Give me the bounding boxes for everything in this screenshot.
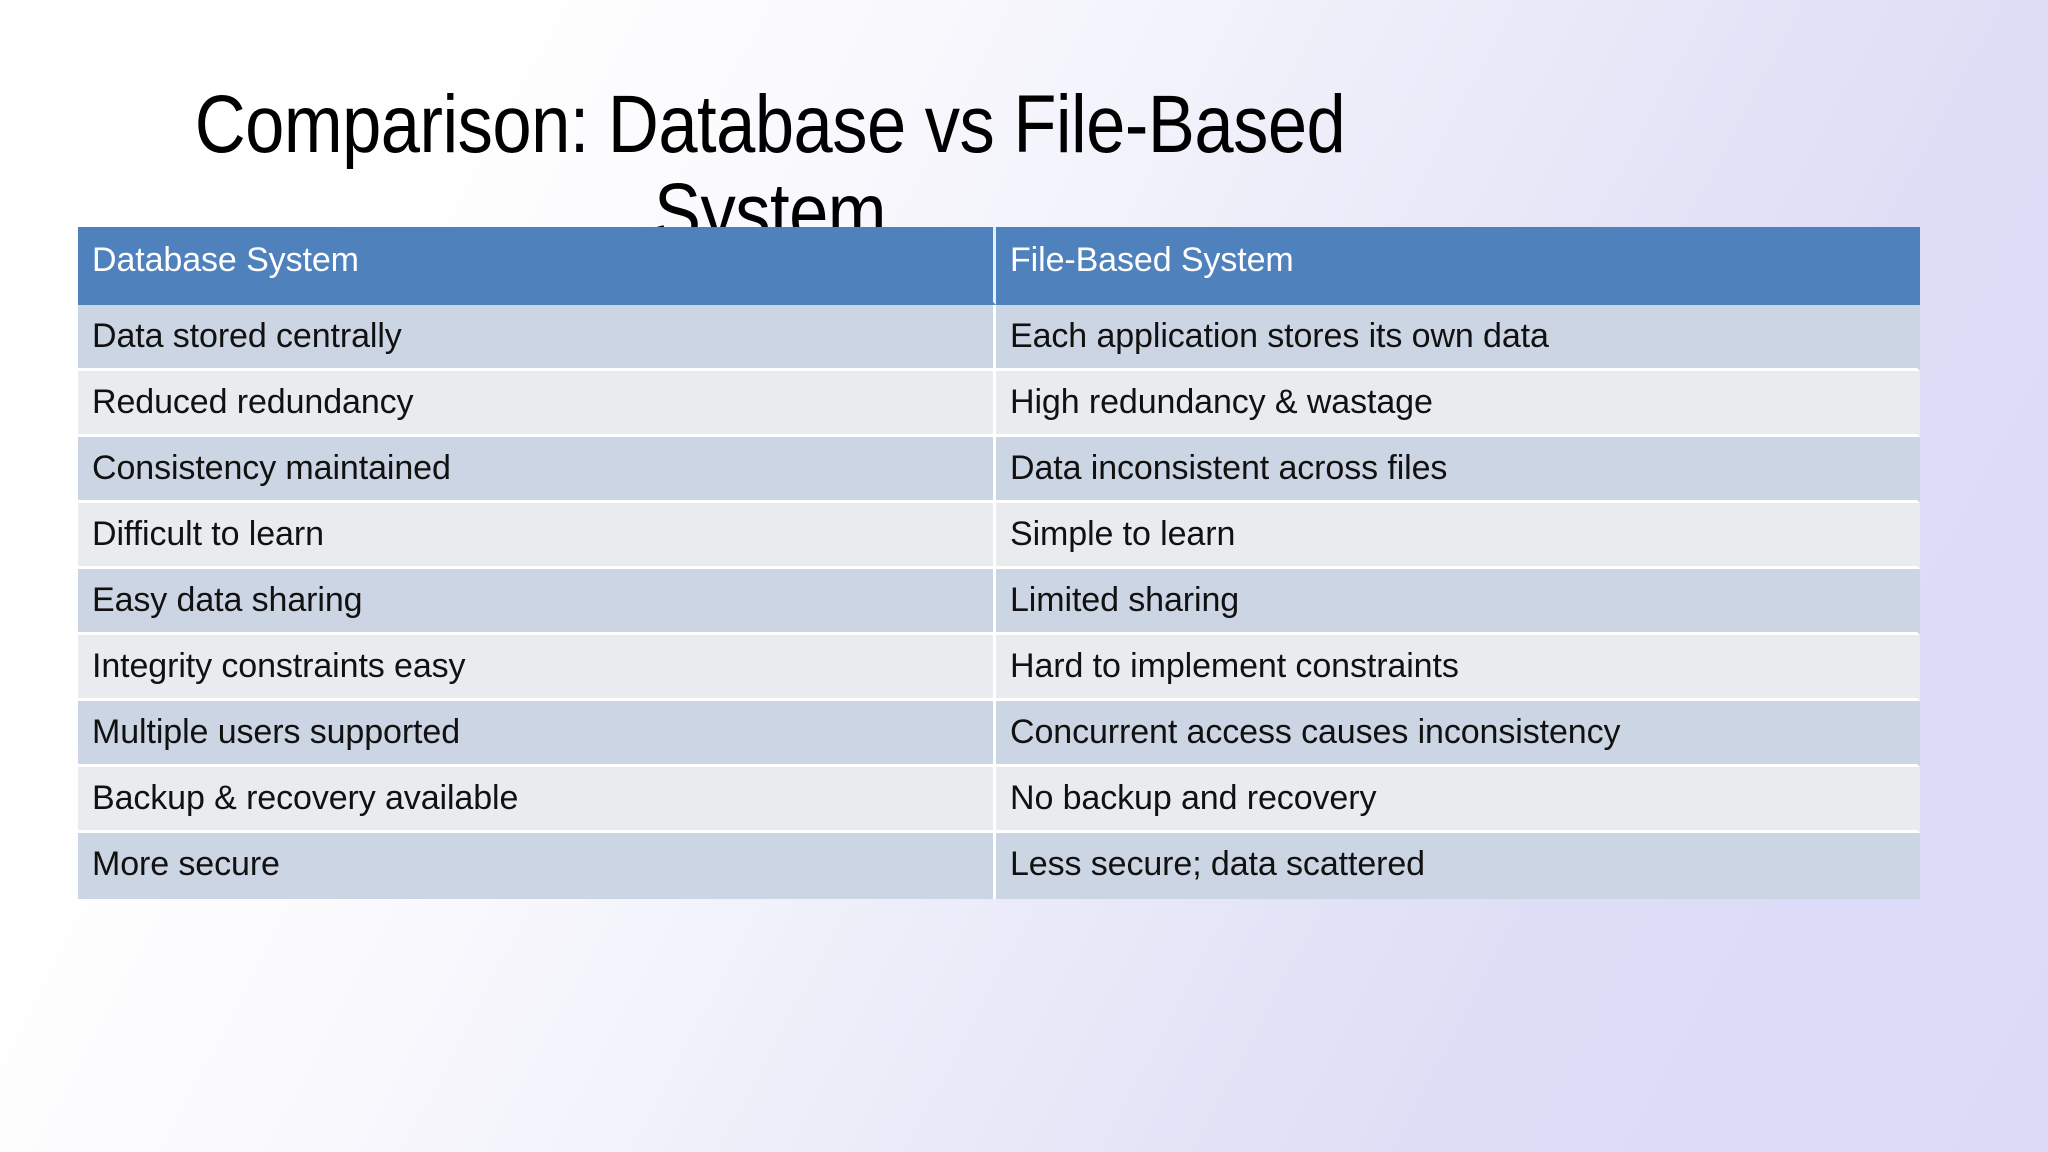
cell-file-based-system: Data inconsistent across files [996,437,1920,503]
cell-file-based-system: No backup and recovery [996,767,1920,833]
cell-database-system: Easy data sharing [78,569,996,635]
table-body: Data stored centrally Each application s… [78,305,1920,899]
table-row: Difficult to learn Simple to learn [78,503,1920,569]
table-row: Reduced redundancy High redundancy & was… [78,371,1920,437]
cell-database-system: Difficult to learn [78,503,996,569]
cell-database-system: Multiple users supported [78,701,996,767]
column-header-database-system: Database System [78,227,996,305]
table-row: Easy data sharing Limited sharing [78,569,1920,635]
cell-file-based-system: Less secure; data scattered [996,833,1920,899]
cell-file-based-system: Simple to learn [996,503,1920,569]
comparison-table: Database System File-Based System Data s… [78,227,1920,899]
table-header-row: Database System File-Based System [78,227,1920,305]
cell-database-system: Data stored centrally [78,305,996,371]
slide-canvas: Comparison: Database vs File-Based Syste… [0,0,2048,1152]
table-row: Consistency maintained Data inconsistent… [78,437,1920,503]
cell-file-based-system: Hard to implement constraints [996,635,1920,701]
cell-database-system: Backup & recovery available [78,767,996,833]
cell-file-based-system: Each application stores its own data [996,305,1920,371]
cell-database-system: More secure [78,833,996,899]
cell-file-based-system: Limited sharing [996,569,1920,635]
cell-database-system: Consistency maintained [78,437,996,503]
cell-file-based-system: Concurrent access causes inconsistency [996,701,1920,767]
cell-database-system: Reduced redundancy [78,371,996,437]
cell-file-based-system: High redundancy & wastage [996,371,1920,437]
column-header-file-based-system: File-Based System [996,227,1920,305]
table-row: Integrity constraints easy Hard to imple… [78,635,1920,701]
table-row: Data stored centrally Each application s… [78,305,1920,371]
table-row: Multiple users supported Concurrent acce… [78,701,1920,767]
cell-database-system: Integrity constraints easy [78,635,996,701]
table-row: More secure Less secure; data scattered [78,833,1920,899]
table-header: Database System File-Based System [78,227,1920,305]
table-row: Backup & recovery available No backup an… [78,767,1920,833]
